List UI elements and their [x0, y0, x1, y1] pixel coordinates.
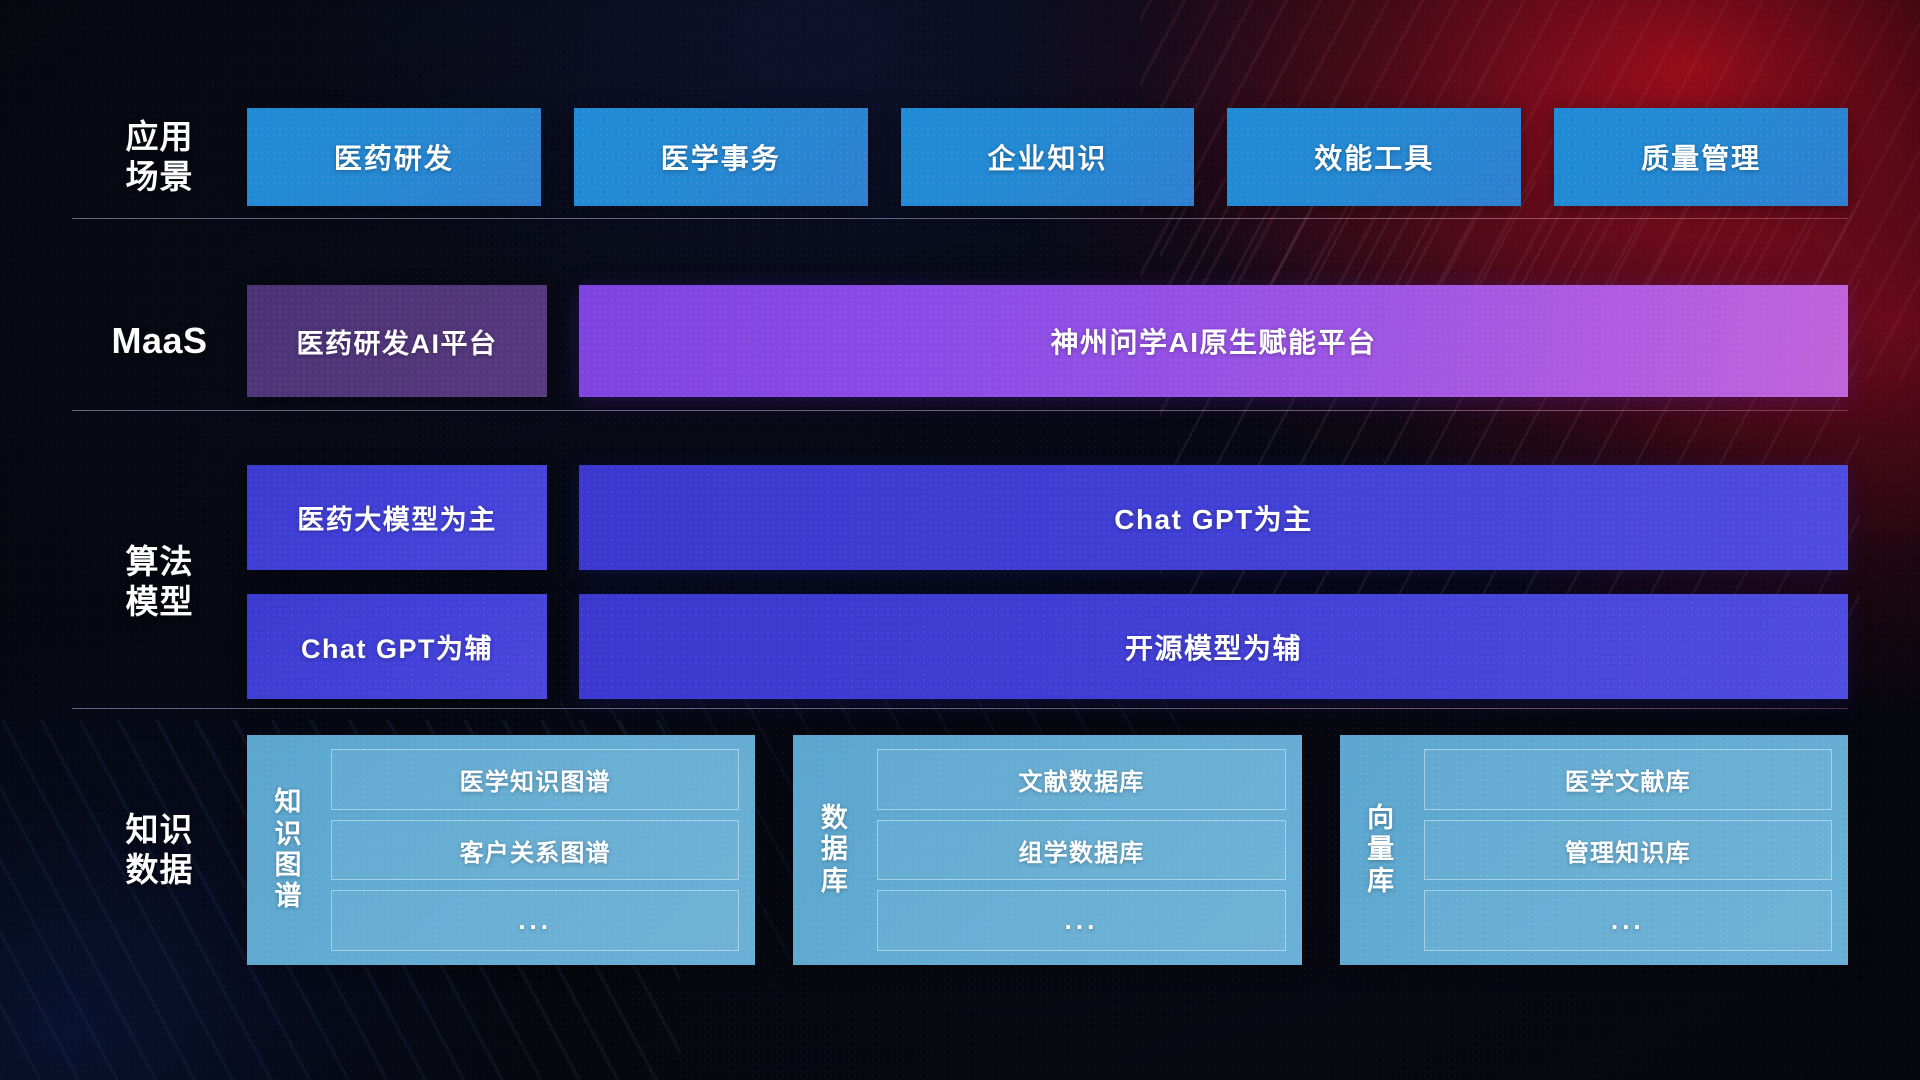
application-card-list: 医药研发 医学事务 企业知识 效能工具 质量管理	[247, 108, 1848, 206]
algo-card-opensource-secondary[interactable]: 开源模型为辅	[579, 594, 1848, 699]
architecture-diagram: 应用 场景 医药研发 医学事务 企业知识 效能工具 质量管理	[0, 0, 1920, 1080]
knowledge-panel-database[interactable]: 数 据 库 文献数据库 组学数据库 ...	[793, 735, 1301, 965]
layer-algorithm-model: 算法 模型 医药大模型为主 Chat GPT为主 Chat GPT为辅 开源模型…	[72, 465, 1848, 699]
knowledge-item-medical-literature[interactable]: 医学文献库	[1424, 749, 1832, 810]
algo-card-chatgpt-secondary[interactable]: Chat GPT为辅	[247, 594, 547, 699]
layer-label-application-scenarios: 应用 场景	[72, 117, 247, 198]
algo-card-pharma-llm-primary[interactable]: 医药大模型为主	[247, 465, 547, 570]
maas-card-label: 神州问学AI原生赋能平台	[1050, 321, 1376, 361]
layer-divider-1	[72, 218, 1848, 219]
knowledge-item-medical-graph[interactable]: 医学知识图谱	[331, 749, 739, 810]
app-card-label: 质量管理	[1641, 137, 1761, 177]
knowledge-item-customer-graph[interactable]: 客户关系图谱	[331, 820, 739, 881]
slide-background: 应用 场景 医药研发 医学事务 企业知识 效能工具 质量管理	[0, 0, 1920, 1080]
knowledge-item-more[interactable]: ...	[877, 890, 1285, 951]
knowledge-panel-title: 知 识 图 谱	[257, 749, 319, 951]
knowledge-panel-title: 向 量 库	[1350, 749, 1412, 951]
algorithm-row-secondary: Chat GPT为辅 开源模型为辅	[247, 594, 1848, 699]
knowledge-item-more[interactable]: ...	[1424, 890, 1832, 951]
knowledge-item-list: 医学知识图谱 客户关系图谱 ...	[331, 749, 739, 951]
maas-card-shenzhou-platform[interactable]: 神州问学AI原生赋能平台	[579, 285, 1848, 397]
algorithm-row-primary: 医药大模型为主 Chat GPT为主	[247, 465, 1848, 570]
algo-card-label: 开源模型为辅	[1125, 627, 1302, 667]
layer-divider-3	[72, 708, 1848, 709]
knowledge-item-literature-db[interactable]: 文献数据库	[877, 749, 1285, 810]
knowledge-panel-title: 数 据 库	[803, 749, 865, 951]
algo-card-label: Chat GPT为主	[1114, 498, 1313, 538]
layer-label-maas: MaaS	[72, 319, 247, 363]
layer-label-knowledge-data: 知识 数据	[72, 810, 247, 891]
app-card-enterprise-knowledge[interactable]: 企业知识	[901, 108, 1195, 206]
layer-knowledge-data: 知识 数据 知 识 图 谱 医学知识图谱 客户关系图谱 ... 数 据 库 文献…	[72, 735, 1848, 965]
algo-card-label: 医药大模型为主	[297, 498, 497, 537]
layer-maas: MaaS 医药研发AI平台 神州问学AI原生赋能平台	[72, 285, 1848, 397]
knowledge-panel-vector-store[interactable]: 向 量 库 医学文献库 管理知识库 ...	[1340, 735, 1848, 965]
knowledge-item-more[interactable]: ...	[331, 890, 739, 951]
app-card-medical-affairs[interactable]: 医学事务	[574, 108, 868, 206]
app-card-label: 企业知识	[987, 137, 1107, 177]
maas-card-drug-rd-platform[interactable]: 医药研发AI平台	[247, 285, 547, 397]
app-card-label: 医药研发	[334, 137, 454, 177]
algo-card-chatgpt-primary[interactable]: Chat GPT为主	[579, 465, 1848, 570]
app-card-quality-management[interactable]: 质量管理	[1554, 108, 1848, 206]
knowledge-item-management-knowledge[interactable]: 管理知识库	[1424, 820, 1832, 881]
app-card-label: 效能工具	[1314, 137, 1434, 177]
layer-label-algorithm-model: 算法 模型	[72, 542, 247, 623]
app-card-drug-rd[interactable]: 医药研发	[247, 108, 541, 206]
algorithm-card-list: 医药大模型为主 Chat GPT为主 Chat GPT为辅 开源模型为辅	[247, 465, 1848, 699]
knowledge-panel-list: 知 识 图 谱 医学知识图谱 客户关系图谱 ... 数 据 库 文献数据库 组学…	[247, 735, 1848, 965]
knowledge-item-list: 医学文献库 管理知识库 ...	[1424, 749, 1832, 951]
knowledge-item-list: 文献数据库 组学数据库 ...	[877, 749, 1285, 951]
knowledge-panel-knowledge-graph[interactable]: 知 识 图 谱 医学知识图谱 客户关系图谱 ...	[247, 735, 755, 965]
maas-card-list: 医药研发AI平台 神州问学AI原生赋能平台	[247, 285, 1848, 397]
layer-application-scenarios: 应用 场景 医药研发 医学事务 企业知识 效能工具 质量管理	[72, 108, 1848, 206]
app-card-efficiency-tools[interactable]: 效能工具	[1227, 108, 1521, 206]
app-card-label: 医学事务	[661, 137, 781, 177]
layer-divider-2	[72, 410, 1848, 411]
knowledge-item-omics-db[interactable]: 组学数据库	[877, 820, 1285, 881]
maas-card-label: 医药研发AI平台	[297, 322, 498, 361]
algo-card-label: Chat GPT为辅	[301, 627, 493, 666]
